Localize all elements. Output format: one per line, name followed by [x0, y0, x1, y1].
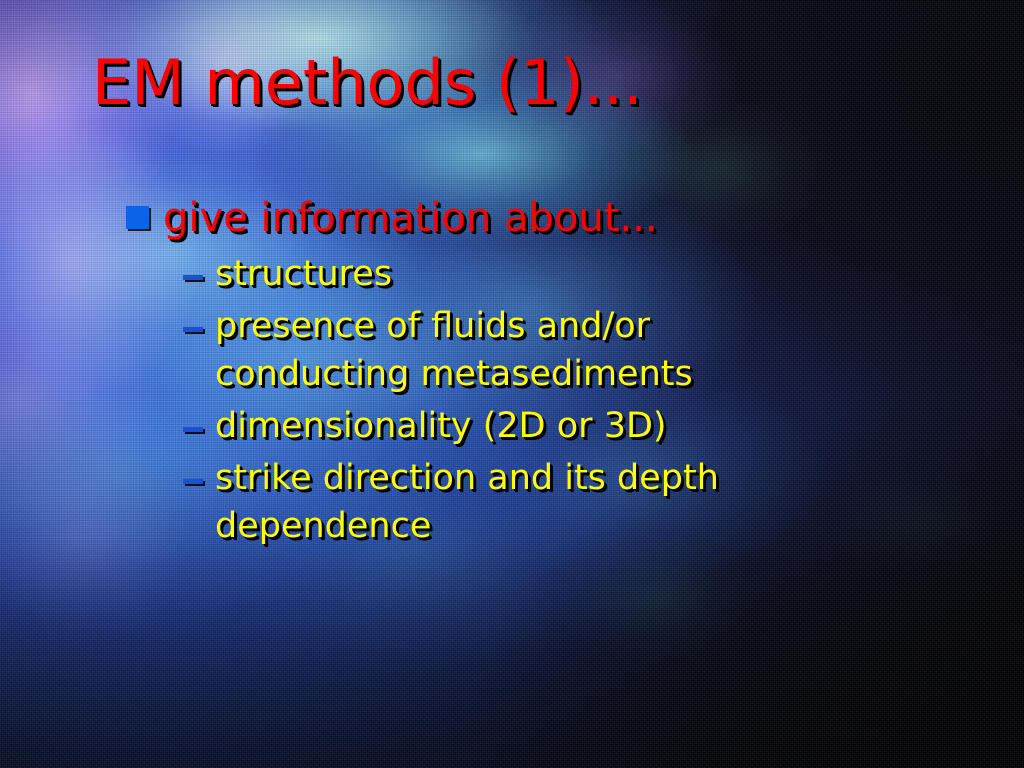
- bullet-level2: structures: [183, 250, 946, 298]
- dash-bullet-icon: [183, 479, 203, 484]
- bullet-level2-label: strike direction and its depth dependenc…: [215, 454, 835, 550]
- sub-bullet-list: structures presence of fluids and/or con…: [126, 250, 946, 550]
- bullet-level1-label: give information about...: [163, 192, 658, 244]
- bullet-level2: presence of fluids and/or conducting met…: [183, 302, 946, 398]
- presentation-slide: EM methods (1)... give information about…: [0, 0, 1024, 768]
- slide-content: EM methods (1)... give information about…: [0, 0, 1024, 768]
- slide-title: EM methods (1)...: [92, 52, 643, 114]
- bullet-level2-label: presence of fluids and/or conducting met…: [215, 302, 835, 398]
- bullet-level2-label: dimensionality (2D or 3D): [215, 402, 667, 450]
- bullet-level1: give information about...: [126, 192, 946, 244]
- square-bullet-icon: [126, 206, 149, 229]
- dash-bullet-icon: [183, 427, 203, 432]
- dash-bullet-icon: [183, 327, 203, 332]
- dash-bullet-icon: [183, 275, 203, 280]
- slide-body: give information about... structures pre…: [126, 192, 946, 554]
- bullet-level2: strike direction and its depth dependenc…: [183, 454, 946, 550]
- bullet-level2-label: structures: [215, 250, 392, 298]
- bullet-level2: dimensionality (2D or 3D): [183, 402, 946, 450]
